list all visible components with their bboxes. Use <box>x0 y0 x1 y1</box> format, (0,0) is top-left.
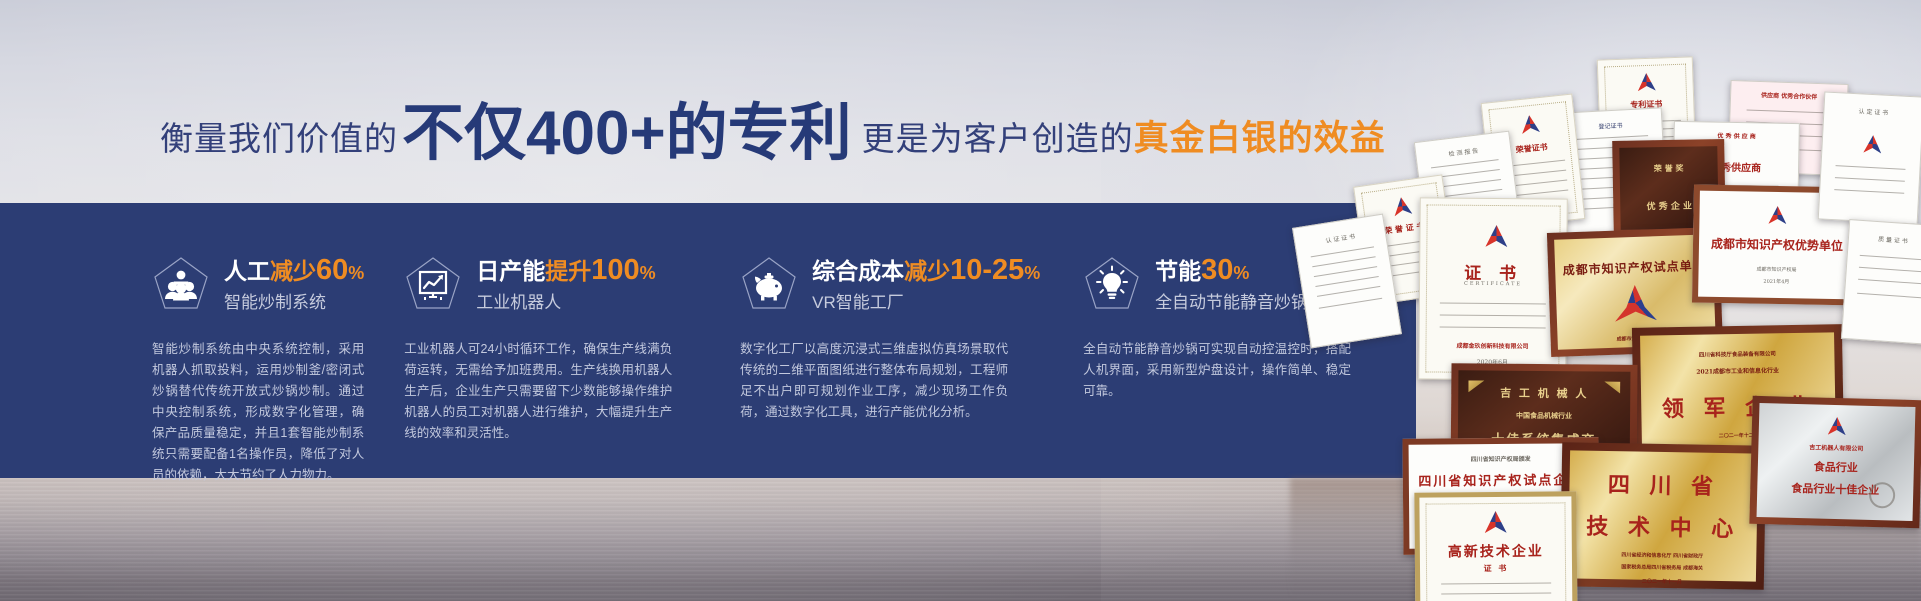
headline-prefix: 衡量我们价值的 <box>160 112 398 160</box>
headline: 衡量我们价值的 不仅400+的专利 更是为客户创造的 真金白银的效益 <box>160 78 1386 148</box>
feature-title-number: 10-25 <box>950 254 1024 286</box>
feature-title: 综合成本减少10-25% <box>812 256 1040 287</box>
certificate-left-low: 认 证 证 书 <box>1292 214 1402 349</box>
feature-title-number: 30 <box>1201 254 1233 286</box>
feature-title-highlight: 减少 <box>904 258 950 284</box>
feature-subtitle: 工业机器人 <box>476 292 655 314</box>
plaque-title: 成都市知识产权优势单位 <box>1699 235 1855 255</box>
certificate-high-tech-enterprise: 高新技术企业 证 书 <box>1414 491 1577 601</box>
feature-item-cost: 综合成本减少10-25% VR智能工厂 数字化工厂以高度沉浸式三维虚拟仿真场景取… <box>730 203 1073 478</box>
certificate-title: 证 书 <box>1420 258 1566 284</box>
feature-title-percent: % <box>640 263 656 283</box>
plaque-sichuan-tech-center: 四 川 省 技 术 中 心 四川省经济和信息化厅 四川省财政厅 国家税务总局四川… <box>1560 442 1766 590</box>
feature-subtitle: VR智能工厂 <box>812 292 1040 314</box>
feature-description: 数字化工厂以高度沉浸式三维虚拟仿真场景取代传统的二维平面图纸进行整体布局规划，工… <box>740 339 1008 423</box>
feature-title: 日产能提升100% <box>476 256 655 287</box>
features-panel: 人工减少60% 智能炒制系统 智能炒制系统由中央系统控制，采用机器人抓取投料，运… <box>0 203 1416 478</box>
feature-title: 人工减少60% <box>224 256 364 287</box>
feature-title-plain: 综合成本 <box>812 258 904 284</box>
people-group-icon <box>152 255 210 313</box>
plaque-food-industry-top-ten: 吉工机器人有限公司 食品行业 食品行业十佳企业 <box>1749 396 1921 528</box>
certificate-stack: 专利证书 登记证书 荣誉证书 检 <box>1261 40 1921 601</box>
feature-title-number: 100 <box>591 254 639 286</box>
feature-description: 智能炒制系统由中央系统控制，采用机器人抓取投料，运用炒制釜/密闭式炒锅替代传统开… <box>152 339 364 486</box>
feature-title-percent: % <box>1024 263 1040 283</box>
feature-item-labor: 人工减少60% 智能炒制系统 智能炒制系统由中央系统控制，采用机器人抓取投料，运… <box>0 203 394 478</box>
feature-title-plain: 日产能 <box>476 258 545 284</box>
feature-title-number: 60 <box>316 254 348 286</box>
certificate-title: 高新技术企业 <box>1420 540 1572 561</box>
chart-board-icon <box>404 255 462 313</box>
feature-title-plain: 节能 <box>1155 258 1201 284</box>
lightbulb-icon <box>1083 255 1141 313</box>
headline-emphasis: 不仅400+的专利 <box>402 82 852 172</box>
certificate-right-edge: 认 定 证 书 <box>1818 91 1921 224</box>
feature-title-highlight: 减少 <box>270 258 316 284</box>
plaque-title: 成都市知识产权试点单位 <box>1555 256 1713 279</box>
feature-title-plain: 人工 <box>224 258 270 284</box>
feature-title-percent: % <box>348 263 364 283</box>
feature-title-highlight: 提升 <box>545 258 591 284</box>
feature-description: 工业机器人可24小时循环工作，确保生产线满负荷运转，无需给予加班费用。生产线换用… <box>404 339 672 444</box>
feature-subtitle: 智能炒制系统 <box>224 292 364 314</box>
certificate-zheng-shu: 证 书 CERTIFICATE 成都金玖创新科技有限公司 2020年6月 <box>1418 197 1568 380</box>
headline-middle: 更是为客户创造的 <box>862 112 1134 160</box>
piggy-bank-icon <box>740 255 798 313</box>
feature-item-capacity: 日产能提升100% 工业机器人 工业机器人可24小时循环工作，确保生产线满负荷运… <box>394 203 730 478</box>
promo-banner: 衡量我们价值的 不仅400+的专利 更是为客户创造的 真金白银的效益 <box>0 0 1921 601</box>
feature-title-percent: % <box>1233 263 1249 283</box>
certificate-right-lower: 质 量 证 书 <box>1841 219 1921 345</box>
